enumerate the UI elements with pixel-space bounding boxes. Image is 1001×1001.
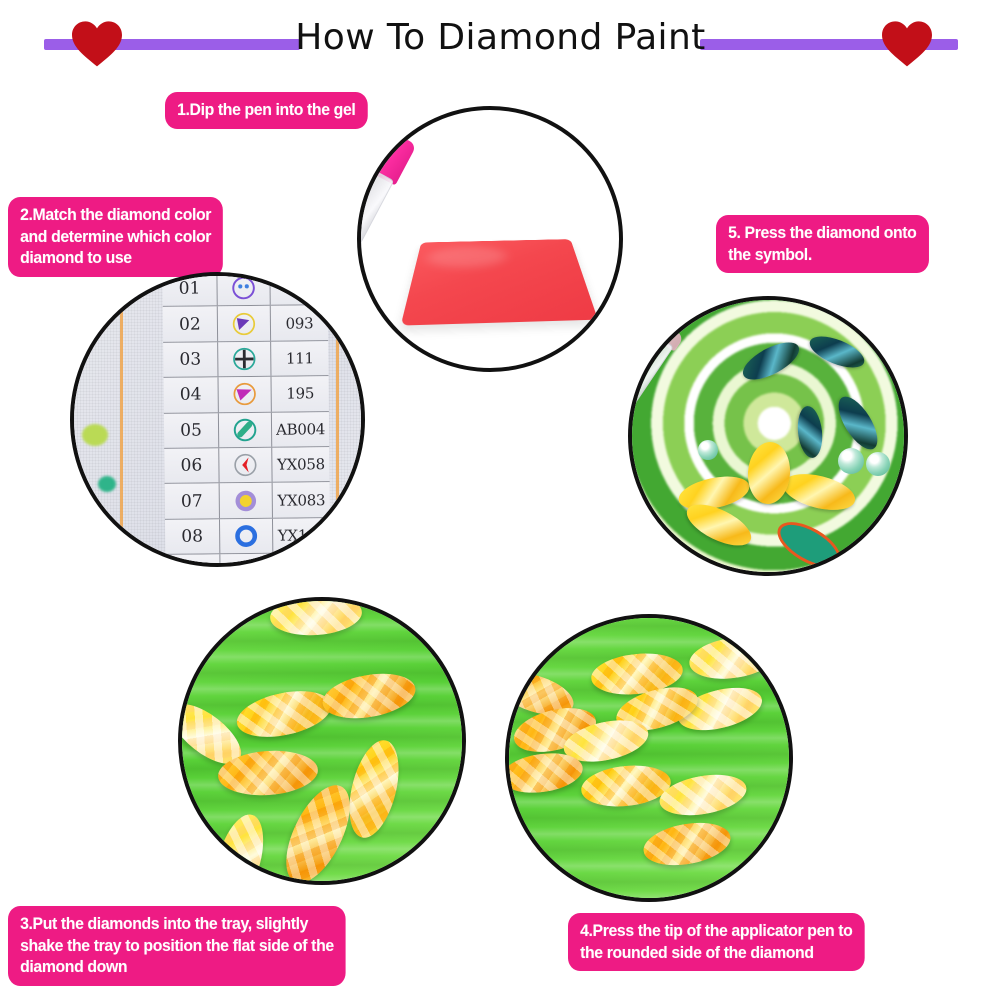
- cell-code: 195: [271, 376, 328, 411]
- table-row: 04 195: [164, 376, 329, 413]
- step-3-line-3: diamond down: [20, 956, 334, 978]
- teal-ring-plus-icon: [231, 346, 257, 372]
- canvas-symbol-blob-3: [78, 494, 92, 506]
- gem-ab-2: [866, 452, 890, 476]
- cell-symbol: [220, 483, 273, 518]
- step-5-line-2: the symbol.: [728, 244, 916, 266]
- tray-pickup-scene: [509, 618, 789, 898]
- cell-symbol: [220, 554, 273, 567]
- cell-code: YX058: [272, 447, 329, 482]
- cell-no: 05: [164, 413, 219, 448]
- orange-leaf-teal-fill-icon: [233, 558, 259, 567]
- cell-code: 028: [270, 272, 327, 305]
- step-3-label: 3.Put the diamonds into the tray, slight…: [8, 906, 346, 986]
- step-4-label: 4.Press the tip of the applicator pen to…: [568, 913, 865, 971]
- cell-code: YX125: [273, 553, 330, 567]
- canvas-with-gems-scene: [632, 300, 904, 572]
- step-3-line-1: 3.Put the diamonds into the tray, slight…: [20, 913, 334, 935]
- table-row: 06 YX058: [164, 447, 329, 484]
- purple-smiley-circle-icon: [230, 275, 256, 301]
- cell-symbol: [220, 518, 273, 553]
- photo-pen-picking-diamond: [505, 614, 793, 902]
- cell-no: 07: [165, 484, 220, 519]
- pen-in-gel-scene: [361, 110, 619, 368]
- table-row: 09 YX125: [165, 553, 330, 567]
- cell-code: AB004: [272, 412, 329, 447]
- step-2-label: 2.Match the diamond color and determine …: [8, 197, 223, 277]
- cell-no: 02: [163, 307, 218, 342]
- canvas-symbol-blob-1: [82, 424, 108, 446]
- cell-code: 111: [271, 341, 328, 376]
- canvas-guide-line-left: [120, 276, 123, 563]
- table-row: 07 YX083: [165, 482, 330, 519]
- table-row: 01 028: [162, 272, 327, 307]
- photo-diamonds-in-tray: [178, 597, 466, 885]
- cell-no: 03: [163, 342, 218, 377]
- step-1-label: 1.Dip the pen into the gel: [165, 92, 367, 129]
- step-4-line-1: 4.Press the tip of the applicator pen to: [580, 920, 852, 942]
- cell-symbol: [218, 342, 271, 377]
- cell-symbol: [219, 412, 272, 447]
- pen-body: [357, 166, 394, 249]
- canvas-guide-line-right: [336, 276, 339, 563]
- table-row: 08 YX106: [165, 518, 330, 555]
- cell-code: YX083: [273, 482, 330, 517]
- yellow-ring-purple-triangle-icon: [231, 310, 257, 336]
- step-3-line-2: shake the tray to position the flat side…: [20, 935, 334, 957]
- symbol-chart-table: 01 028 02: [162, 272, 330, 567]
- cell-code: YX106: [273, 518, 330, 553]
- photo-symbol-chart: 01 028 02: [70, 272, 365, 567]
- cell-no: 06: [164, 448, 219, 483]
- step-2-line-1: 2.Match the diamond color: [20, 204, 211, 226]
- canvas-symbol-blob-2: [98, 476, 116, 492]
- photo-placing-diamond-on-canvas: [628, 296, 908, 576]
- cell-symbol: [219, 448, 272, 483]
- gem-ab-1: [838, 448, 864, 474]
- table-row: 03 111: [163, 341, 328, 378]
- step-2-line-2: and determine which color: [20, 226, 211, 248]
- step-4-line-2: the rounded side of the diamond: [580, 942, 852, 964]
- grey-ring-red-chevron-icon: [232, 452, 258, 478]
- purple-ring-yellow-dot-icon: [233, 487, 259, 513]
- gel-pad: [401, 239, 598, 325]
- table-row: 05 AB004: [164, 412, 329, 449]
- header: How To Diamond Paint: [0, 0, 1001, 86]
- tray-scene: [182, 601, 462, 881]
- infographic-root: How To Diamond Paint 1.Dip the pen into …: [0, 0, 1001, 1001]
- cell-no: 04: [164, 377, 219, 412]
- teal-ring-green-slash-icon: [232, 417, 258, 443]
- cell-symbol: [218, 306, 271, 341]
- symbol-chart-scene: 01 028 02: [74, 276, 361, 563]
- cell-symbol: [219, 377, 272, 412]
- cell-symbol: [217, 272, 270, 306]
- cell-code: 093: [271, 306, 328, 341]
- page-title: How To Diamond Paint: [0, 16, 1001, 60]
- step-2-line-3: diamond to use: [20, 247, 211, 269]
- cell-no: 01: [162, 272, 217, 306]
- photo-pen-in-gel: [357, 106, 623, 372]
- cell-no: 09: [165, 554, 220, 567]
- cell-no: 08: [165, 519, 220, 554]
- orange-ring-magenta-triangle-icon: [232, 381, 258, 407]
- blue-open-ring-icon: [233, 523, 259, 549]
- gem-ab-3: [698, 440, 718, 460]
- step-5-label: 5. Press the diamond onto the symbol.: [716, 215, 929, 273]
- table-row: 02 093: [163, 306, 328, 343]
- step-5-line-1: 5. Press the diamond onto: [728, 222, 916, 244]
- step-1-line-1: 1.Dip the pen into the gel: [177, 99, 355, 121]
